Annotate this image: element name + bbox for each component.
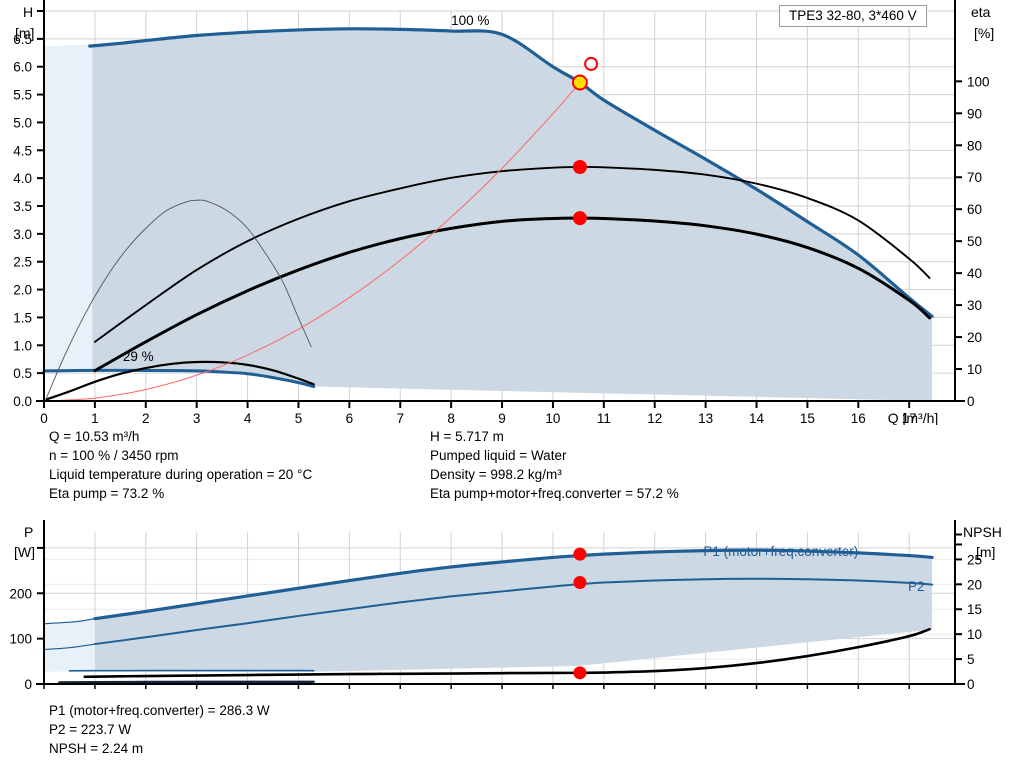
tick-label-eta: 50: [967, 234, 982, 249]
tick-label-head: 3.0: [13, 227, 32, 242]
tick-label-head: 5.0: [13, 115, 32, 130]
x-axis-title: Q [m³/h]: [888, 410, 939, 425]
head-axis-title: H: [23, 3, 33, 22]
curve-label-29-percent: 29 %: [123, 349, 154, 364]
info-liquid-temperature: Liquid temperature during operation = 20…: [49, 465, 312, 484]
head-efficiency-chart: 0.00.51.01.52.02.53.03.54.04.55.05.56.06…: [0, 0, 1024, 425]
tick-label-eta: 10: [967, 362, 982, 377]
tick-label-head: 4.5: [13, 143, 32, 158]
info-p2: P2 = 223.7 W: [49, 720, 270, 739]
power-axis-unit: [W]: [14, 543, 35, 562]
tick-label-npsh: 20: [967, 577, 982, 592]
tick-label-flow: 9: [498, 411, 506, 425]
tick-label-head: 2.5: [13, 255, 32, 270]
head-efficiency-svg: 0.00.51.01.52.02.53.03.54.04.55.05.56.06…: [0, 0, 1024, 425]
tick-label-flow: 2: [142, 411, 150, 425]
tick-label-npsh: 15: [967, 602, 982, 617]
info-density: Density = 998.2 kg/m³: [430, 465, 679, 484]
bottom-chart-group: 01002000510152025P1 (motor+freq.converte…: [9, 520, 982, 692]
info-p1: P1 (motor+freq.converter) = 286.3 W: [49, 701, 270, 720]
tick-label-flow: 12: [647, 411, 662, 425]
tick-label-eta: 90: [967, 106, 982, 121]
info-eta-pump: Eta pump = 73.2 %: [49, 484, 312, 503]
tick-label-flow: 11: [597, 411, 611, 425]
p1-duty-point-marker: [574, 548, 586, 560]
tick-label-eta: 80: [967, 138, 982, 153]
tick-label-power: 0: [24, 677, 32, 692]
tick-label-eta: 20: [967, 330, 982, 345]
tick-label-npsh: 0: [967, 677, 975, 692]
info-head: H = 5.717 m: [430, 427, 679, 446]
tick-label-eta: 100: [967, 74, 990, 89]
eta-axis-unit: [%]: [974, 24, 994, 43]
tick-label-flow: 6: [346, 411, 354, 425]
tick-label-power: 100: [9, 632, 32, 647]
info-flow: Q = 10.53 m³/h: [49, 427, 312, 446]
series-label-p1: P1 (motor+freq.converter): [703, 544, 858, 559]
info-bottom-block: P1 (motor+freq.converter) = 286.3 W P2 =…: [49, 701, 270, 758]
tick-label-head: 1.5: [13, 310, 32, 325]
npsh-axis-unit: [m]: [976, 543, 995, 562]
power-npsh-svg: 01002000510152025P1 (motor+freq.converte…: [0, 520, 1024, 695]
info-npsh: NPSH = 2.24 m: [49, 739, 270, 758]
curve-3: [59, 682, 313, 683]
pump-model-title: TPE3 32-80, 3*460 V: [779, 5, 927, 27]
tick-label-flow: 10: [545, 411, 560, 425]
tick-label-head: 4.0: [13, 171, 32, 186]
tick-label-head: 3.5: [13, 199, 32, 214]
tick-label-npsh: 10: [967, 627, 982, 642]
info-left-block: Q = 10.53 m³/h n = 100 % / 3450 rpm Liqu…: [49, 427, 312, 503]
tick-label-head: 2.0: [13, 283, 32, 298]
operating-envelope-light2: [44, 622, 72, 650]
tick-label-flow: 0: [40, 411, 48, 425]
tick-label-head: 0.0: [13, 394, 32, 409]
tick-label-flow: 4: [244, 411, 252, 425]
series-label-p2: P2: [908, 579, 925, 594]
info-right-block: H = 5.717 m Pumped liquid = Water Densit…: [430, 427, 679, 503]
curve-label-100-percent: 100 %: [451, 13, 489, 28]
tick-label-head: 1.0: [13, 338, 32, 353]
operating-envelope-edge: [44, 44, 92, 370]
tick-label-power: 200: [9, 586, 32, 601]
info-speed: n = 100 % / 3450 rpm: [49, 446, 312, 465]
eta-axis-title: eta: [971, 3, 990, 22]
info-pumped-liquid: Pumped liquid = Water: [430, 446, 679, 465]
tick-label-eta: 0: [967, 394, 975, 409]
tick-label-head: 5.5: [13, 88, 32, 103]
npsh-duty-point-marker: [574, 667, 586, 679]
top-chart-group: 0.00.51.01.52.02.53.03.54.04.55.05.56.06…: [13, 0, 989, 425]
tick-label-flow: 8: [447, 411, 455, 425]
eta-pump-point-marker: [574, 161, 586, 173]
power-npsh-chart: 01002000510152025P1 (motor+freq.converte…: [0, 520, 1024, 695]
duty-point-marker: [573, 75, 587, 89]
head-axis-unit: [m]: [15, 24, 34, 43]
tick-label-flow: 13: [698, 411, 713, 425]
eta-total-point-marker: [574, 212, 586, 224]
tick-label-flow: 16: [851, 411, 866, 425]
tick-label-head: 0.5: [13, 366, 32, 381]
tick-label-flow: 14: [749, 411, 765, 425]
tick-label-flow: 7: [396, 411, 404, 425]
tick-label-flow: 15: [800, 411, 815, 425]
tick-label-npsh: 5: [967, 652, 975, 667]
npsh-axis-title: NPSH: [963, 523, 1002, 542]
p2-duty-point-marker: [574, 577, 586, 589]
tick-label-flow: 5: [295, 411, 303, 425]
tick-label-eta: 30: [967, 298, 982, 313]
tick-label-eta: 70: [967, 170, 982, 185]
tick-label-eta: 60: [967, 202, 982, 217]
power-axis-title: P: [24, 523, 33, 542]
info-eta-total: Eta pump+motor+freq.converter = 57.2 %: [430, 484, 679, 503]
tick-label-flow: 1: [91, 411, 99, 425]
tick-label-flow: 3: [193, 411, 201, 425]
tick-label-head: 6.0: [13, 60, 32, 75]
tick-label-eta: 40: [967, 266, 982, 281]
